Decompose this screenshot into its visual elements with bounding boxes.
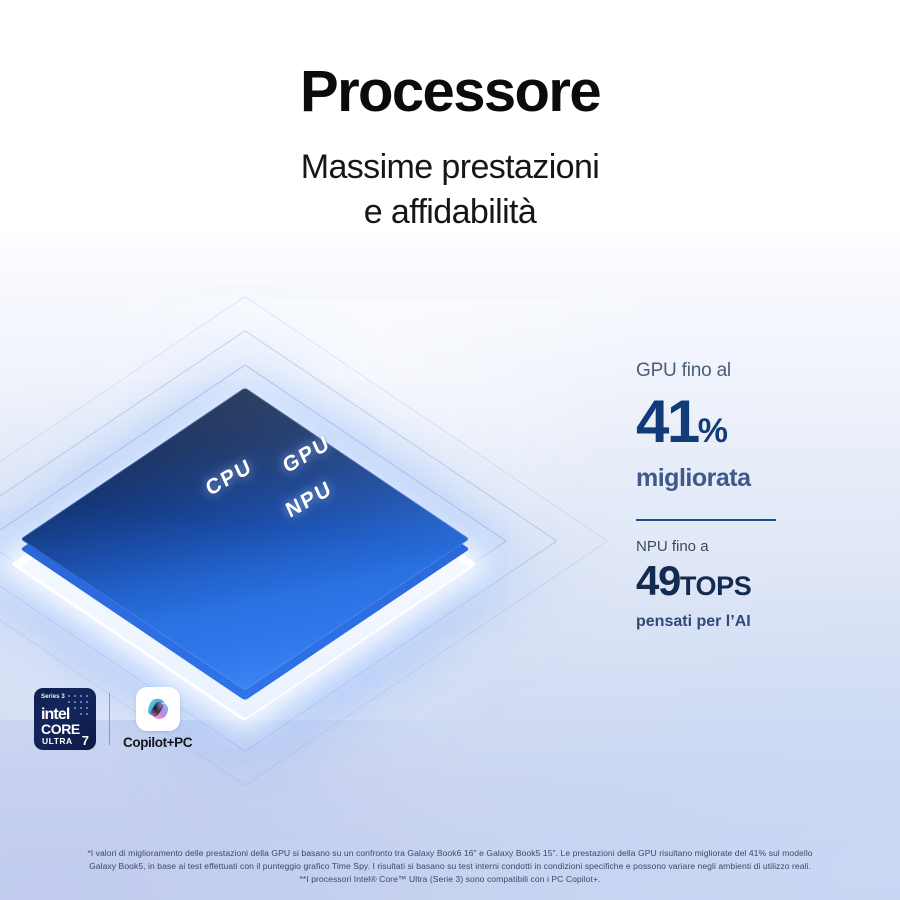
intel-tier-number: 7 — [82, 733, 89, 748]
intel-ultra-label: ULTRA — [42, 736, 73, 746]
badge-row: Series 3 intel CORE ULTRA 7 — [34, 687, 192, 750]
copilot-tile — [136, 687, 180, 731]
npu-stat-number: 49 — [636, 557, 680, 604]
npu-stat-subtitle: pensati per l’AI — [636, 613, 886, 631]
page-title: Processore — [0, 62, 900, 123]
header: Processore Massime prestazioni e affidab… — [0, 0, 900, 235]
npu-stat-caption: NPU fino a — [636, 538, 886, 555]
footnote-line-1: *I valori di miglioramento delle prestaz… — [0, 847, 900, 860]
subtitle-line-1: Massime prestazioni — [301, 148, 600, 186]
gpu-stat-percent-sign: % — [698, 412, 727, 450]
footnote-disclaimer: *I valori di miglioramento delle prestaz… — [0, 847, 900, 886]
intel-dot-grid-icon — [67, 694, 91, 718]
page-subtitle: Massime prestazioni e affidabilità — [0, 145, 900, 235]
copilot-logo-icon — [143, 694, 173, 724]
intel-series-label: Series 3 — [41, 694, 65, 700]
npu-stat-unit: TOPS — [680, 571, 751, 601]
intel-core-label: CORE — [41, 721, 80, 737]
stats-divider — [636, 519, 776, 521]
gpu-stat-caption: GPU fino al — [636, 360, 886, 382]
footnote-line-3: **I processori Intel® Core™ Ultra (Serie… — [0, 873, 900, 886]
gpu-stat-subtitle: migliorata — [636, 464, 886, 493]
copilot-pc-label: Copilot+PC — [123, 735, 192, 750]
gpu-stat-value: 41% — [636, 392, 886, 452]
subtitle-line-2: e affidabilità — [0, 190, 900, 235]
gpu-stat-number: 41 — [636, 388, 698, 455]
stats-panel: GPU fino al 41% migliorata NPU fino a 49… — [636, 360, 886, 631]
badge-separator — [109, 693, 110, 745]
npu-stat-value: 49TOPS — [636, 560, 886, 602]
footnote-line-2: Galaxy Book5, in base ai test effettuati… — [0, 860, 900, 873]
intel-core-ultra-badge: Series 3 intel CORE ULTRA 7 — [34, 688, 96, 750]
copilot-pc-badge: Copilot+PC — [123, 687, 192, 750]
